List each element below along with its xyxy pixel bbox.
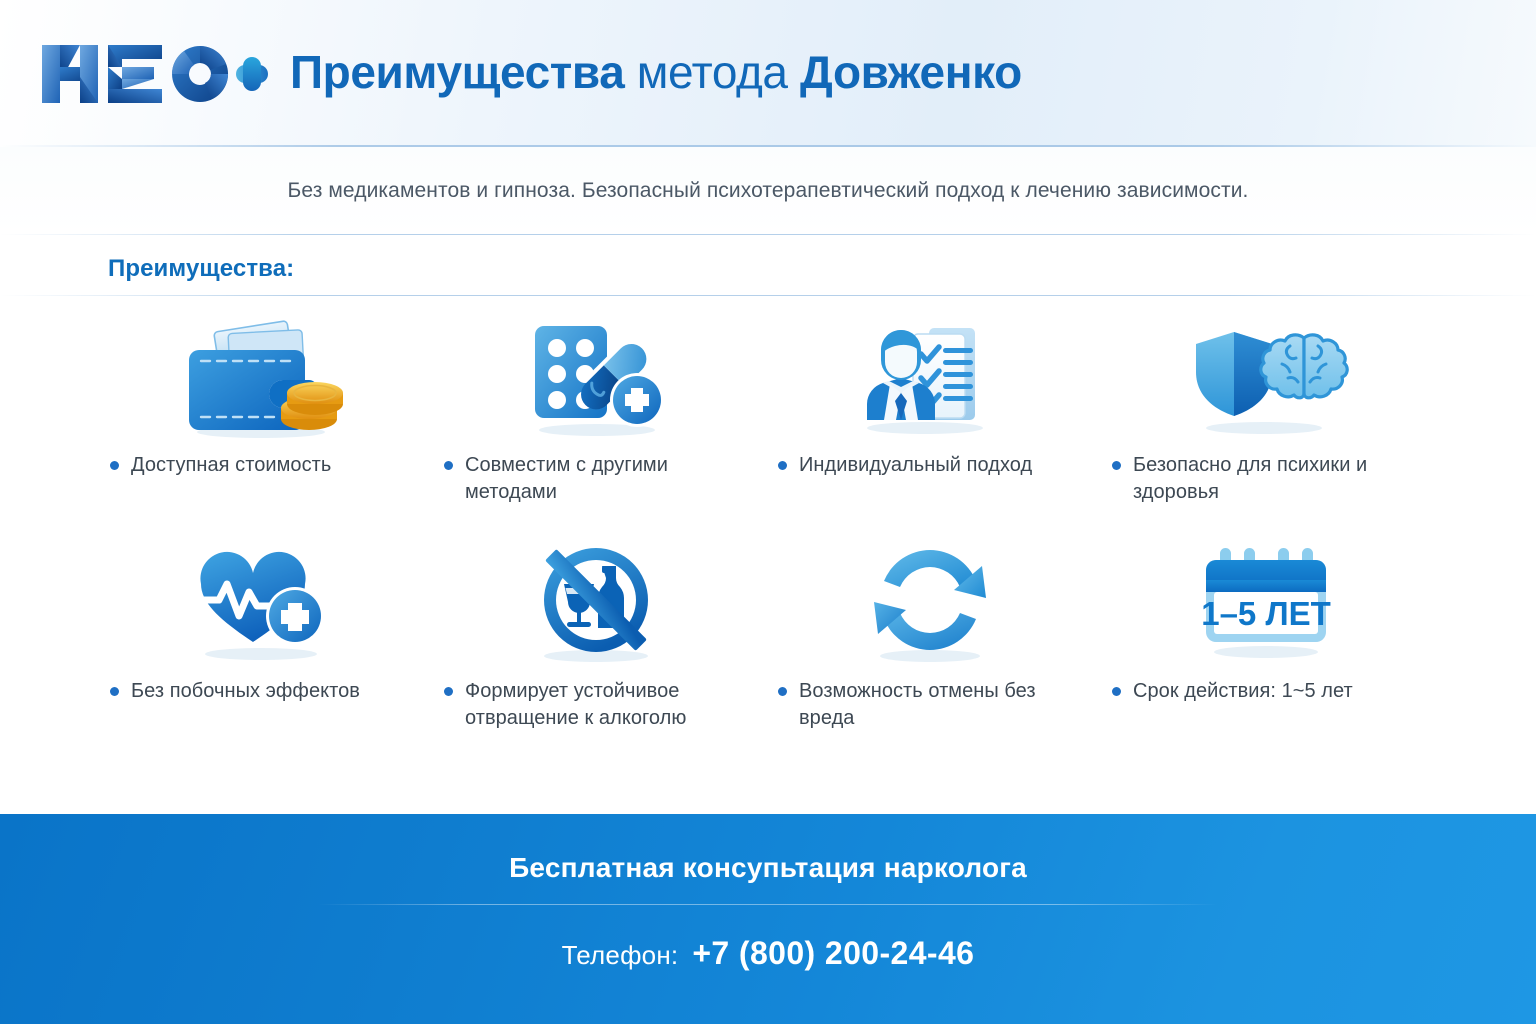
benefit-label-row: Индивидуальный подход	[764, 452, 1040, 479]
benefit-label: Индивидуальный подход	[799, 452, 1032, 479]
benefit-label-row: Срок действия: 1~5 лет	[1098, 678, 1361, 705]
bullet-icon	[110, 461, 119, 470]
benefit-item: Совместим с другими методами	[430, 312, 764, 538]
page-subtitle: Без медикаментов и гипноза. Безопасный п…	[288, 179, 1249, 203]
bullet-icon	[444, 687, 453, 696]
benefit-label-row: Без побочных эффектов	[96, 678, 368, 705]
page-title-part-1: Преимущества	[290, 46, 624, 98]
doctor-checklist-icon	[764, 312, 1098, 444]
bullet-icon	[444, 461, 453, 470]
benefit-item: Безопасно для психики и здоровья	[1098, 312, 1432, 538]
no-alcohol-icon	[430, 538, 764, 670]
benefit-label-row: Безопасно для психики и здоровья	[1098, 452, 1411, 506]
pills-plus-icon	[430, 312, 764, 444]
benefit-label-row: Возможность отмены без вреда	[764, 678, 1077, 732]
benefit-label-row: Формирует устойчивое отвращение к алкого…	[430, 678, 743, 732]
footer-phone-row: Телефон: +7 (800) 200-24-46	[562, 935, 975, 972]
benefit-item: Формирует устойчивое отвращение к алкого…	[430, 538, 764, 764]
section-label-benefits: Преимущества:	[108, 255, 294, 283]
heo-plus-logo	[36, 37, 272, 111]
phone-number[interactable]: +7 (800) 200-24-46	[692, 935, 974, 972]
footer-title: Бесплатная консупьтация нарколога	[509, 852, 1027, 884]
phone-label: Телефон:	[562, 940, 679, 971]
shield-brain-icon	[1098, 312, 1432, 444]
benefit-label-row: Совместим с другими методами	[430, 452, 743, 506]
page-title-part-3: Довженко	[800, 46, 1022, 98]
benefit-label: Без побочных эффектов	[131, 678, 360, 705]
benefit-label: Совместим с другими методами	[465, 452, 735, 506]
benefit-label: Формирует устойчивое отвращение к алкого…	[465, 678, 735, 732]
benefit-item: 1–5 ЛЕТ Срок действия: 1~5 лет	[1098, 538, 1432, 764]
benefit-item: Индивидуальный подход	[764, 312, 1098, 538]
page-title: Преимущества метода Довженко	[290, 49, 1022, 99]
benefit-label-row: Доступная стоимость	[96, 452, 339, 479]
benefit-label: Возможность отмены без вреда	[799, 678, 1069, 732]
wallet-coins-icon	[96, 312, 430, 444]
benefit-item: Доступная стоимость	[96, 312, 430, 538]
page-header: Преимущества метода Довженко	[0, 0, 1536, 147]
bullet-icon	[1112, 687, 1121, 696]
refresh-cycle-icon	[764, 538, 1098, 670]
bullet-icon	[110, 687, 119, 696]
benefit-item: Возможность отмены без вреда	[764, 538, 1098, 764]
bullet-icon	[778, 461, 787, 470]
page-title-part-2: метода	[637, 46, 788, 98]
divider-below-section	[0, 295, 1536, 296]
subtitle-band: Без медикаментов и гипноза. Безопасный п…	[0, 147, 1536, 235]
benefit-label: Срок действия: 1~5 лет	[1133, 678, 1353, 705]
heart-pulse-plus-icon	[96, 538, 430, 670]
calendar-years-icon: 1–5 ЛЕТ	[1098, 538, 1432, 670]
bullet-icon	[1112, 461, 1121, 470]
benefit-label: Безопасно для психики и здоровья	[1133, 452, 1403, 506]
footer-cta: Бесплатная консупьтация нарколога Телефо…	[0, 814, 1536, 1024]
benefit-label: Доступная стоимость	[131, 452, 331, 479]
bullet-icon	[778, 687, 787, 696]
calendar-label: 1–5 ЛЕТ	[1201, 595, 1331, 632]
infographic-page: Преимущества метода Довженко Без медикам…	[0, 0, 1536, 1024]
footer-divider	[318, 904, 1218, 905]
benefit-item: Без побочных эффектов	[96, 538, 430, 764]
divider-above-section	[0, 234, 1536, 235]
benefits-grid: Доступная стоимость	[96, 312, 1446, 764]
